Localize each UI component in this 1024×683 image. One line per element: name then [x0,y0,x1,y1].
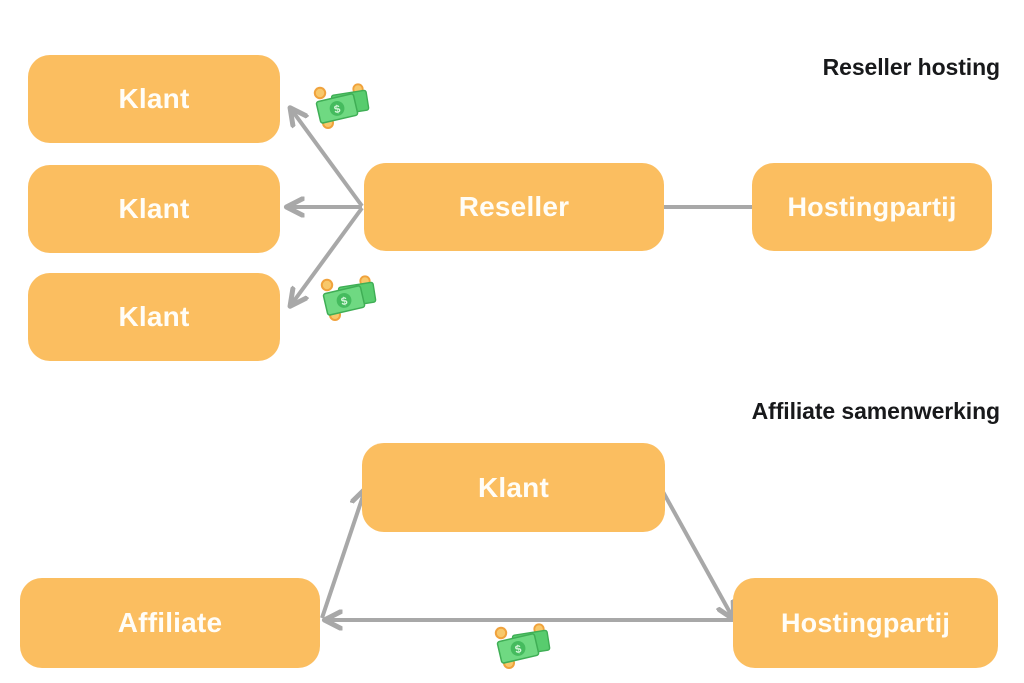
money-banknotes-icon: $ [311,80,373,132]
node-hostingpartij-bottom[interactable]: Hostingpartij [733,578,998,668]
edge-reseller-to-klant-1 [291,109,362,206]
svg-text:$: $ [333,103,342,116]
money-banknotes-icon: $ [318,272,380,324]
node-reseller[interactable]: Reseller [364,163,664,251]
node-label: Klant [478,474,549,502]
node-label: Hostingpartij [787,194,956,221]
node-klant-2[interactable]: Klant [28,165,280,253]
edge-affiliate-to-klant [322,490,365,618]
section-title-affiliate-samenwerking: Affiliate samenwerking [752,398,1000,425]
money-banknotes-icon: $ [492,620,554,672]
svg-text:$: $ [514,643,523,656]
node-label: Affiliate [118,609,222,637]
section-title-reseller-hosting: Reseller hosting [823,54,1000,81]
diagram-canvas: Reseller hosting Affiliate samenwerking … [0,0,1024,683]
node-label: Hostingpartij [781,610,950,637]
node-label: Klant [119,303,190,331]
node-klant-3[interactable]: Klant [28,273,280,361]
edge-klant-to-hostingpartij [662,490,733,618]
node-klant-1[interactable]: Klant [28,55,280,143]
node-affiliate[interactable]: Affiliate [20,578,320,668]
node-label: Klant [119,195,190,223]
node-hostingpartij-top[interactable]: Hostingpartij [752,163,992,251]
node-label: Reseller [459,193,570,221]
edge-reseller-to-klant-3 [291,208,362,305]
node-klant-4[interactable]: Klant [362,443,665,532]
svg-text:$: $ [340,295,349,308]
node-label: Klant [119,85,190,113]
